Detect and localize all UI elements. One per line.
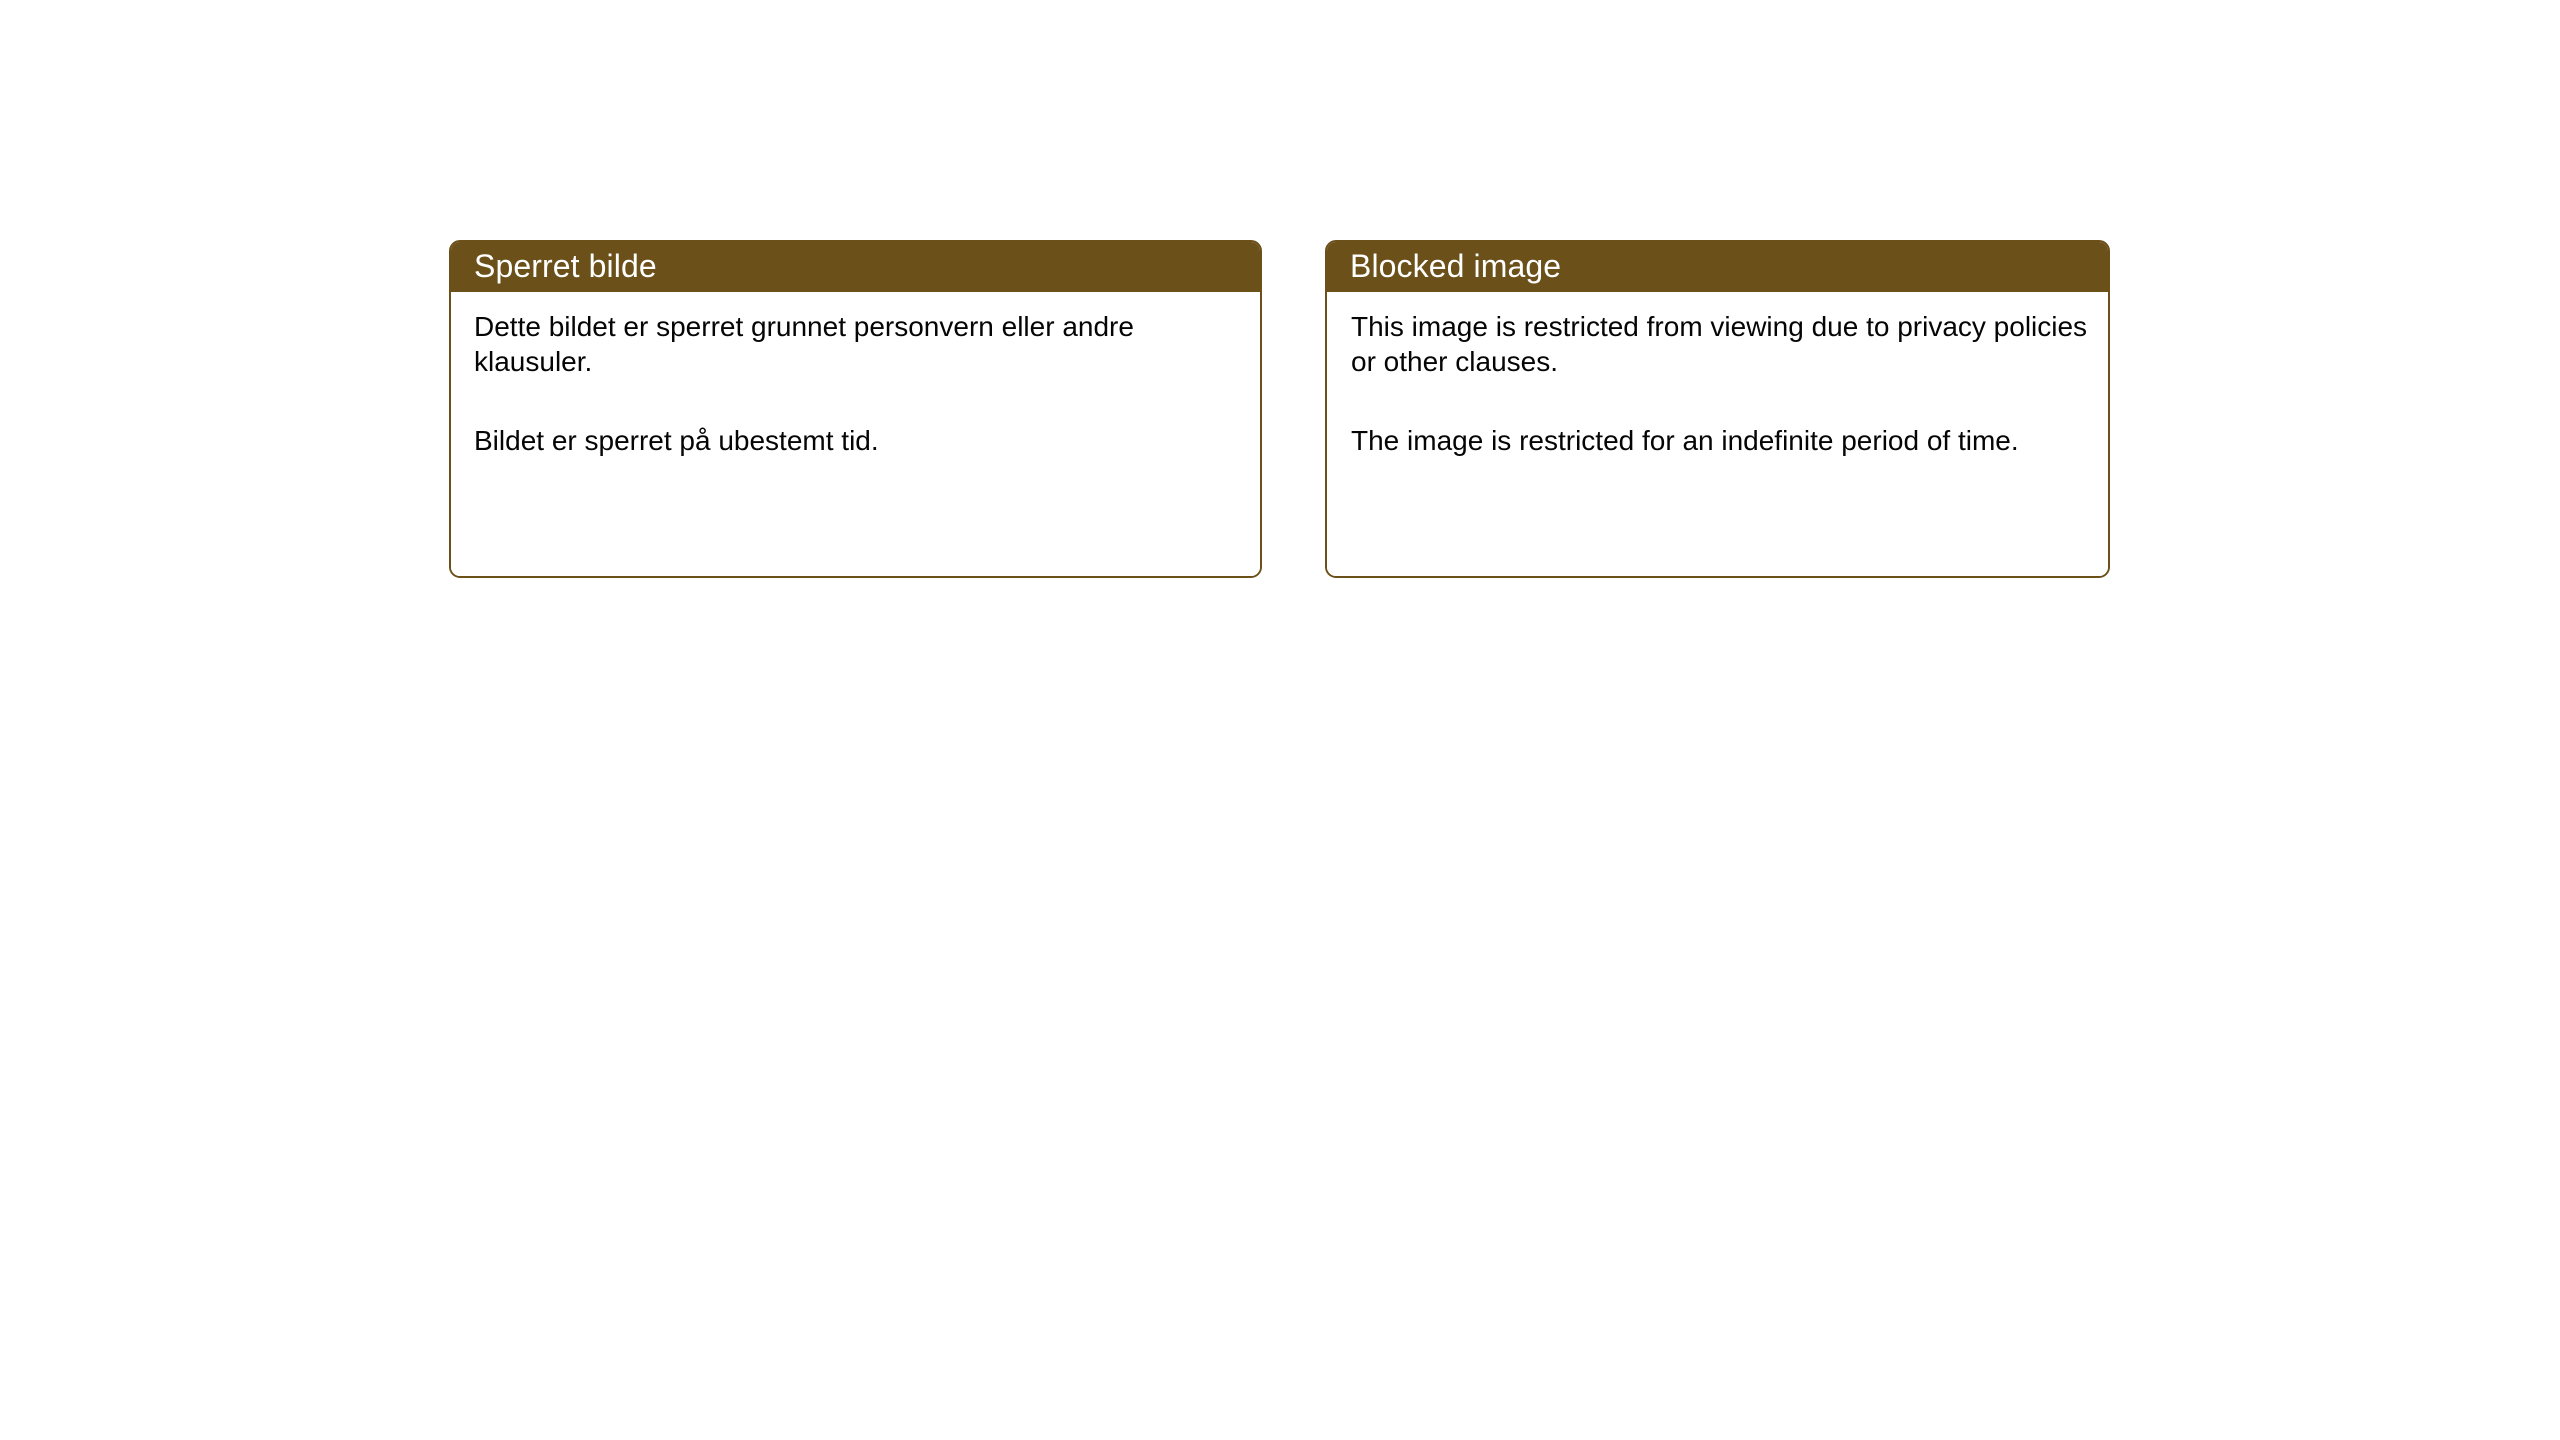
blocked-image-notice-group: Sperret bilde Dette bildet er sperret gr…	[449, 240, 2110, 578]
panel-title-no: Sperret bilde	[474, 250, 657, 282]
blocked-image-panel-en: Blocked image This image is restricted f…	[1325, 240, 2110, 578]
panel-paragraph-no-1: Dette bildet er sperret grunnet personve…	[474, 309, 1236, 379]
blocked-image-panel-no: Sperret bilde Dette bildet er sperret gr…	[449, 240, 1262, 578]
panel-paragraph-no-2: Bildet er sperret på ubestemt tid.	[474, 423, 1236, 458]
panel-header-no: Sperret bilde	[449, 240, 1262, 292]
panel-paragraph-en-1: This image is restricted from viewing du…	[1351, 309, 2090, 379]
panel-title-en: Blocked image	[1350, 250, 1561, 282]
panel-body-no: Dette bildet er sperret grunnet personve…	[451, 292, 1260, 576]
panel-body-en: This image is restricted from viewing du…	[1327, 292, 2108, 576]
panel-paragraph-en-2: The image is restricted for an indefinit…	[1351, 423, 2090, 458]
panel-header-en: Blocked image	[1325, 240, 2110, 292]
page-canvas: Sperret bilde Dette bildet er sperret gr…	[0, 0, 2560, 1440]
